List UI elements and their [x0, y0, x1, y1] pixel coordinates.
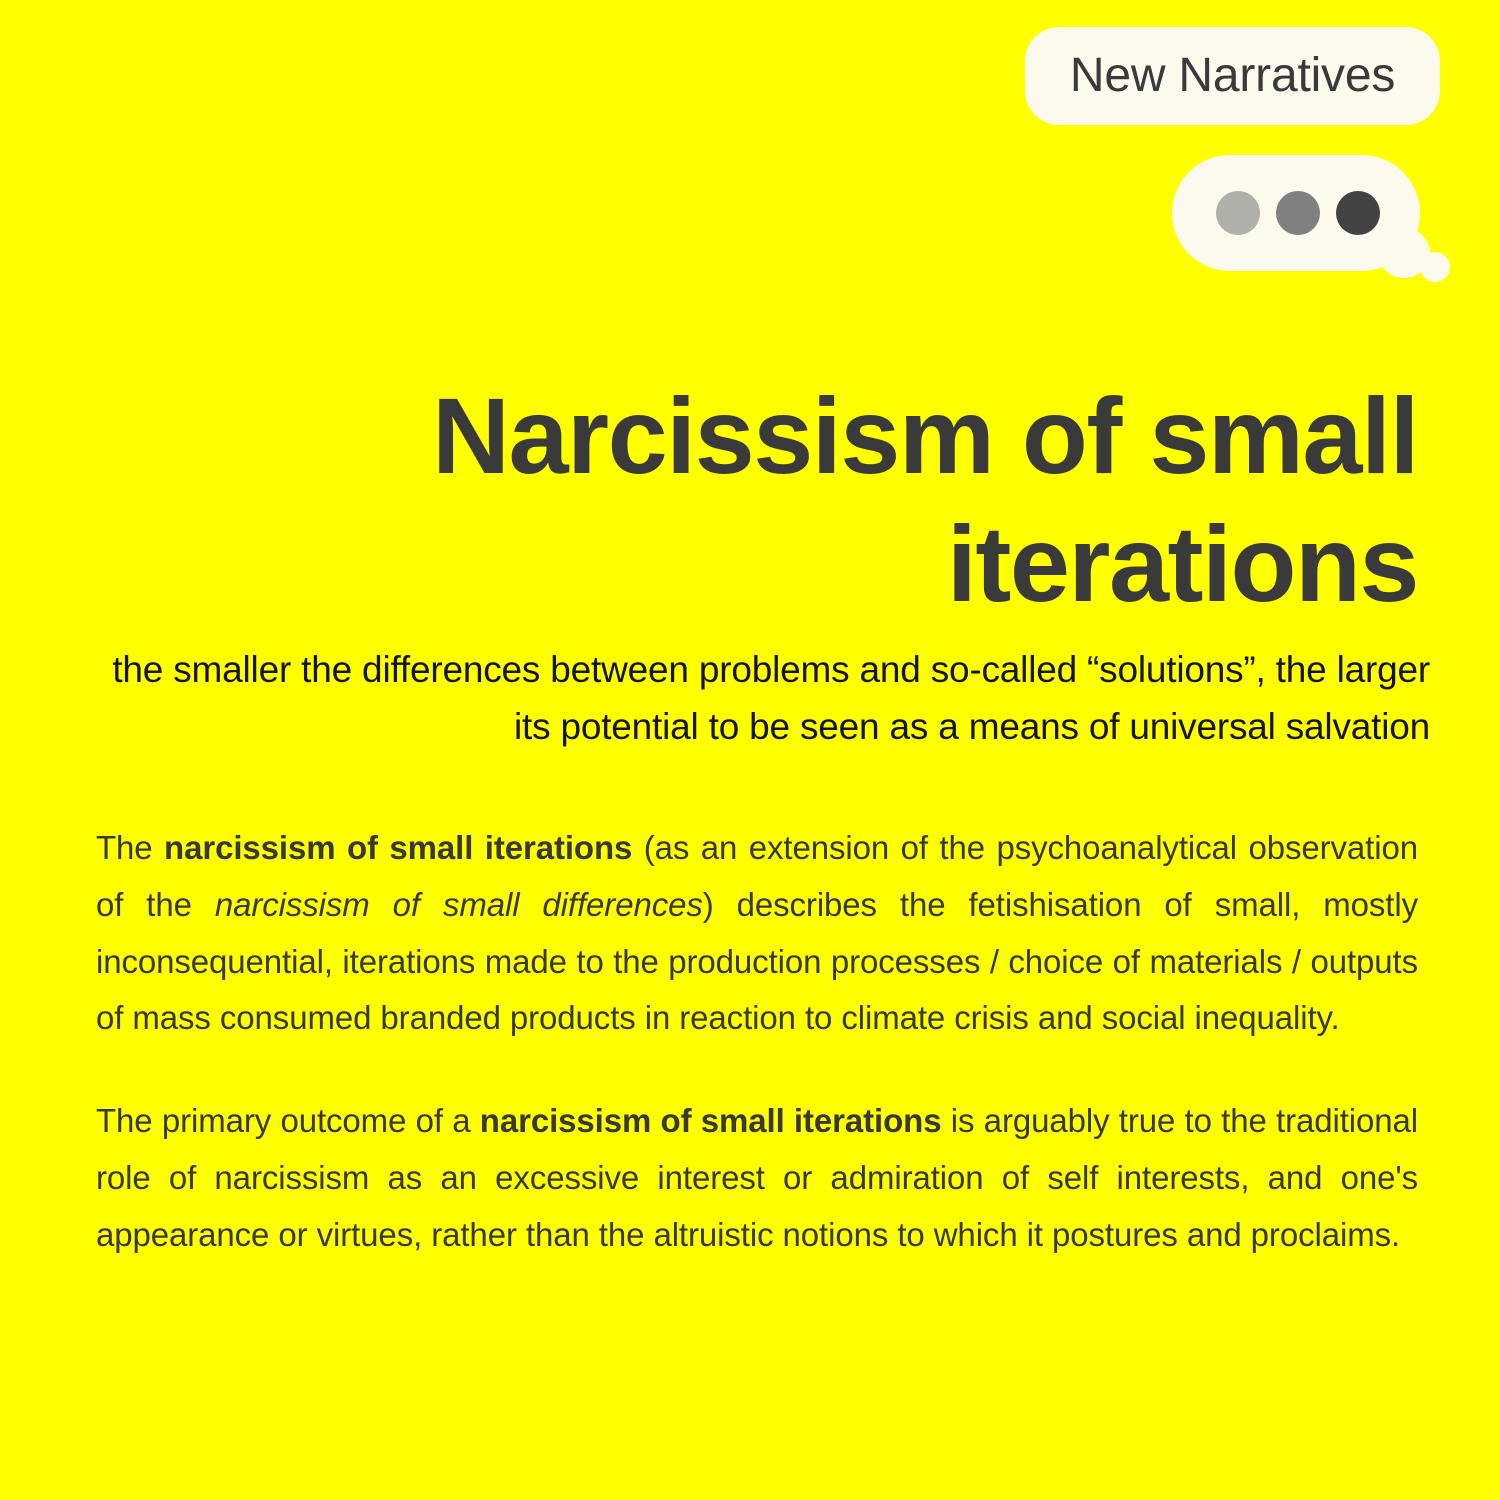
- speech-bubble-tail-icon: [1398, 96, 1428, 118]
- typing-dot-medium-icon: [1276, 191, 1320, 235]
- paragraph-1-italic-term: narcissism of small differences: [215, 886, 703, 923]
- name-speech-bubble[interactable]: New Narratives: [1025, 27, 1440, 125]
- standfirst-text: the smaller the differences between prob…: [70, 641, 1430, 756]
- page-title: Narcissism of small iterations: [96, 372, 1418, 627]
- body-paragraph-2: The primary outcome of a narcissism of s…: [96, 1093, 1418, 1263]
- chat-bubble-group: New Narratives: [1000, 0, 1500, 300]
- body-paragraph-1: The narcissism of small iterations (as a…: [96, 820, 1418, 1047]
- paragraph-1-part-1: The: [96, 829, 164, 866]
- typing-dots-group: [1216, 191, 1380, 235]
- thought-bubble-tail-small-icon: [1420, 252, 1450, 282]
- body-copy: The narcissism of small iterations (as a…: [96, 820, 1418, 1263]
- paragraph-2-bold-term: narcissism of small iterations: [480, 1102, 942, 1139]
- paragraph-2-part-1: The primary outcome of a: [96, 1102, 480, 1139]
- poster-canvas: { "theme": { "background": "#ffff00", "b…: [0, 0, 1500, 1500]
- paragraph-1-bold-term: narcissism of small iterations: [164, 829, 632, 866]
- name-bubble-label: New Narratives: [1070, 52, 1395, 100]
- typing-dot-light-icon: [1216, 191, 1260, 235]
- typing-dot-dark-icon: [1336, 191, 1380, 235]
